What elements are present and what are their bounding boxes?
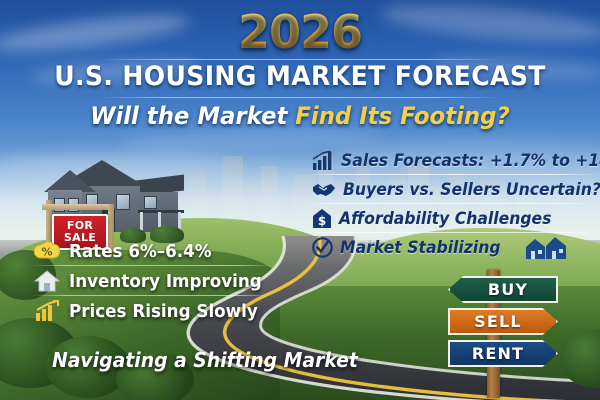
sign-sell[interactable]: SELL <box>448 308 558 335</box>
percent-tag-icon: % <box>34 241 60 262</box>
subtitle-white-part: Will the Market <box>90 102 287 130</box>
two-houses-icon <box>525 236 567 260</box>
tagline: Navigating a Shifting Market <box>52 348 358 372</box>
list-item-label: Affordability Challenges <box>339 209 551 229</box>
title-block: 2026 U.S. HOUSING MARKET FORECAST Will t… <box>0 8 600 132</box>
infographic-canvas: FOR SALE 2026 U.S. HOUSING MARKET FORECA… <box>0 0 600 400</box>
subtitle-gold-part: Find Its Footing? <box>295 102 509 130</box>
sign-buy[interactable]: BUY <box>448 276 558 303</box>
handshake-icon <box>312 180 336 200</box>
list-item-affordability: $ Affordability Challenges <box>312 204 592 233</box>
key-stats-list: % Rates 6%–6.4% Inventory Improving <box>34 236 284 326</box>
rising-chart-icon <box>34 300 60 322</box>
directional-signpost: BUY SELL RENT <box>440 272 600 400</box>
forecast-list: Sales Forecasts: +1.7% to +14% Buyers vs… <box>312 146 592 262</box>
title-divider-bottom <box>100 97 500 98</box>
list-item-buyers-vs-sellers: Buyers vs. Sellers Uncertain? <box>312 175 592 204</box>
list-item-prices: Prices Rising Slowly <box>34 296 284 326</box>
check-circle-icon <box>312 237 333 258</box>
year-heading: 2026 <box>0 8 600 56</box>
list-item-label: Inventory Improving <box>69 271 262 292</box>
svg-text:$: $ <box>318 214 326 228</box>
list-item-sales-forecasts: Sales Forecasts: +1.7% to +14% <box>312 146 592 175</box>
list-item-label: Sales Forecasts: +1.7% to +14% <box>341 151 600 171</box>
list-item-inventory: Inventory Improving <box>34 266 284 296</box>
list-item-rates: % Rates 6%–6.4% <box>34 236 284 266</box>
list-item-label: Market Stabilizing <box>340 238 501 258</box>
dollar-house-icon: $ <box>312 208 332 229</box>
bar-chart-icon <box>312 151 334 171</box>
list-item-label: Rates 6%–6.4% <box>69 241 212 262</box>
page-title: U.S. HOUSING MARKET FORECAST <box>21 60 579 94</box>
list-item-label: Prices Rising Slowly <box>69 301 258 322</box>
for-sale-sign-arm <box>42 204 114 210</box>
sign-rent[interactable]: RENT <box>448 340 558 367</box>
svg-text:%: % <box>41 245 52 258</box>
subtitle: Will the Market Find Its Footing? <box>15 100 585 132</box>
house-icon <box>34 270 60 292</box>
list-item-market-stabilizing: Market Stabilizing <box>312 233 592 262</box>
list-item-label: Buyers vs. Sellers Uncertain? <box>343 180 600 200</box>
